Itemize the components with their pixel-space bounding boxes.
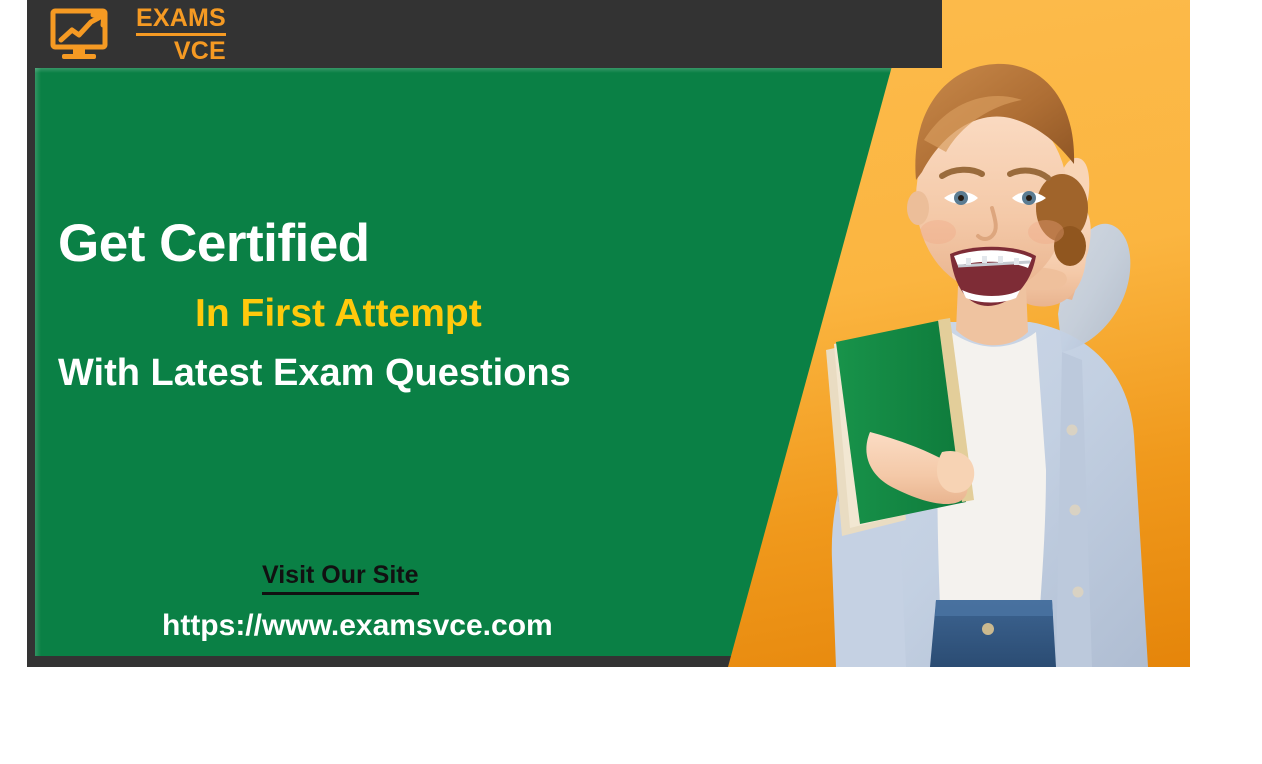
site-url-text[interactable]: https://www.examsvce.com — [162, 609, 553, 643]
brand-wordmark: EXAMS VCE — [136, 6, 226, 64]
brand-logo[interactable]: EXAMS VCE — [50, 6, 226, 64]
brand-word-vce: VCE — [174, 39, 226, 64]
monitor-growth-chart-icon — [50, 8, 128, 62]
visit-site-link[interactable]: Visit Our Site — [262, 561, 419, 595]
tagline: With Latest Exam Questions — [58, 352, 571, 395]
subheadline: In First Attempt — [195, 292, 482, 336]
brand-word-exams: EXAMS — [136, 6, 226, 36]
promo-banner: EXAMS VCE Get Certified In First Attempt… — [27, 0, 1190, 667]
headline: Get Certified — [58, 213, 370, 274]
